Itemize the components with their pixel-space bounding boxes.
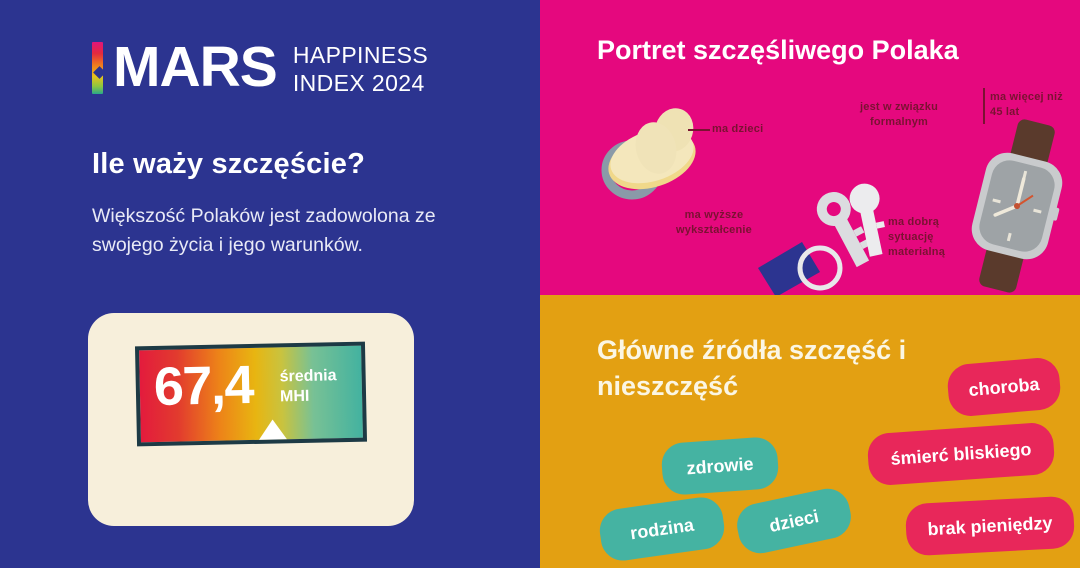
gauge-label-line1: średnia xyxy=(279,366,336,387)
pill-brak-pieniedzy[interactable]: brak pieniędzy xyxy=(905,496,1075,557)
leader-line-age xyxy=(983,88,985,124)
mars-logo: MARS HAPPINESS INDEX 2024 xyxy=(92,38,428,97)
gauge-label-line2: MHI xyxy=(280,386,337,407)
triangle-marker-icon xyxy=(259,419,287,440)
annotation-education: ma wyższe wykształcenie xyxy=(660,208,768,238)
gradient-bar-icon xyxy=(92,42,103,94)
logo-subtitle-line1: HAPPINESS xyxy=(293,41,428,69)
gauge-label: średnia MHI xyxy=(279,366,337,407)
left-panel: MARS HAPPINESS INDEX 2024 Ile waży szczę… xyxy=(0,0,540,568)
gauge-card: 67,4 średnia MHI xyxy=(88,313,414,526)
leader-line-children xyxy=(688,129,710,131)
annotation-children: ma dzieci xyxy=(712,122,763,137)
pill-zdrowie[interactable]: zdrowie xyxy=(660,436,779,496)
infographic-canvas: MARS HAPPINESS INDEX 2024 Ile waży szczę… xyxy=(0,0,1080,568)
pacifier-icon xyxy=(596,104,708,204)
annotation-relation: jest w związku formalnym xyxy=(855,100,943,130)
intro-paragraph: Większość Polaków jest zadowolona ze swo… xyxy=(92,202,472,261)
logo-subtitle-line2: INDEX 2024 xyxy=(293,69,428,97)
annotation-money: ma dobrą sytuację materialną xyxy=(888,215,972,260)
logo-subtitle: HAPPINESS INDEX 2024 xyxy=(293,38,428,97)
page-title: Ile waży szczęście? xyxy=(92,148,365,181)
annotation-age: ma więcej niż 45 lat xyxy=(990,90,1074,120)
gauge-screen: 67,4 średnia MHI xyxy=(135,342,367,447)
pill-choroba[interactable]: choroba xyxy=(946,356,1062,418)
logo-brand-text: MARS xyxy=(113,41,277,93)
wristwatch-icon xyxy=(952,118,1080,293)
orange-panel-title: Główne źródła szczęść i nieszczęść xyxy=(597,333,987,405)
keys-icon xyxy=(758,172,908,297)
gauge-value: 67,4 xyxy=(153,358,253,414)
pink-panel-title: Portret szczęśliwego Polaka xyxy=(597,35,959,66)
